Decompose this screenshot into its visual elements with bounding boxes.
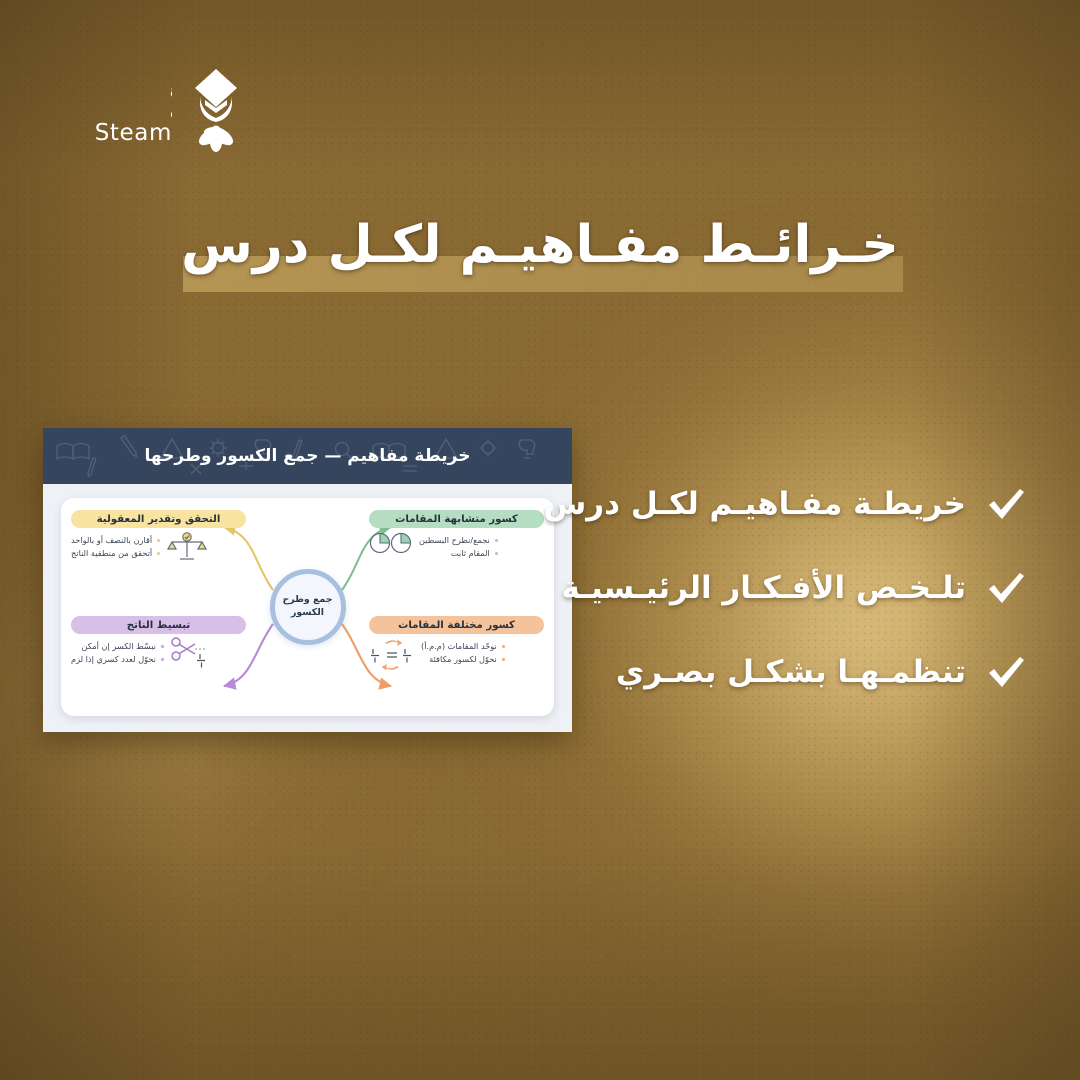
steam-lotus-logo-icon bbox=[180, 66, 252, 154]
scissors-icon bbox=[171, 636, 213, 672]
svg-text:إبـداع: إبـداع bbox=[170, 80, 172, 98]
slide-title: خريطة مفاهيم — جمع الكسور وطرحها bbox=[145, 446, 471, 466]
brand-logo: إبـداع ستيـم Steam bbox=[62, 62, 252, 158]
node-title: تبسيط الناتج bbox=[71, 616, 246, 634]
list-item: تلـخـص الأفـكـار الرئيـسيـة bbox=[488, 546, 1028, 630]
list-item: تنظمـهـا بشكـل بصـري bbox=[488, 630, 1028, 714]
node-title: التحقق وتقدير المعقولية bbox=[71, 510, 246, 528]
node-check-estimate: التحقق وتقدير المعقولية bbox=[71, 510, 246, 564]
bullet-text: تلـخـص الأفـكـار الرئيـسيـة bbox=[562, 570, 966, 606]
list-item: أتحقق من منطقية الناتج bbox=[71, 547, 161, 560]
node-items: نبسّط الكسر إن أمكن نحوّل لعدد كسري إذا … bbox=[71, 640, 165, 665]
list-item: أقارن بالنصف أو بالواحد bbox=[71, 534, 161, 547]
node-items: نجمع/نطرح البسطين المقام ثابت bbox=[419, 534, 499, 559]
feature-bullet-list: خريطـة مفـاهيـم لكـل درس تلـخـص الأفـكـا… bbox=[488, 462, 1028, 714]
list-item: خريطـة مفـاهيـم لكـل درس bbox=[488, 462, 1028, 546]
concept-map-card: كسور متشابهة المقامات نجمع/نطرح البسطين … bbox=[61, 498, 554, 716]
equivalent-fractions-icon bbox=[369, 636, 415, 670]
page-title: خـرائـط مفـاهيـم لكـل درس bbox=[0, 214, 1080, 277]
brand-name-english: Steam bbox=[95, 122, 172, 145]
page-title-section: خـرائـط مفـاهيـم لكـل درس bbox=[0, 214, 1080, 324]
check-mark-icon bbox=[984, 566, 1028, 610]
list-item: نجمع/نطرح البسطين bbox=[419, 534, 499, 547]
svg-text:ستيـم: ستيـم bbox=[170, 99, 172, 117]
bullet-text: خريطـة مفـاهيـم لكـل درس bbox=[544, 486, 967, 522]
center-node-label: جمع وطرح الكسور bbox=[275, 594, 341, 619]
brand-wordmark: إبـداع ستيـم Steam bbox=[94, 75, 172, 145]
check-mark-icon bbox=[984, 482, 1028, 526]
list-item: نبسّط الكسر إن أمكن bbox=[71, 640, 165, 653]
pie-chart-icon bbox=[369, 530, 413, 556]
check-mark-icon bbox=[984, 650, 1028, 694]
concept-map-center-node: جمع وطرح الكسور bbox=[270, 569, 346, 645]
node-simplify-result: تبسيط الناتج bbox=[71, 616, 246, 672]
node-items: أقارن بالنصف أو بالواحد أتحقق من منطقية … bbox=[71, 534, 161, 559]
balance-scale-icon bbox=[167, 530, 207, 564]
list-item: نحوّل لعدد كسري إذا لزم bbox=[71, 653, 165, 666]
bullet-text: تنظمـهـا بشكـل بصـري bbox=[616, 654, 966, 690]
list-item: المقام ثابت bbox=[419, 547, 499, 560]
brand-name-arabic-icon: إبـداع ستيـم bbox=[94, 75, 172, 121]
